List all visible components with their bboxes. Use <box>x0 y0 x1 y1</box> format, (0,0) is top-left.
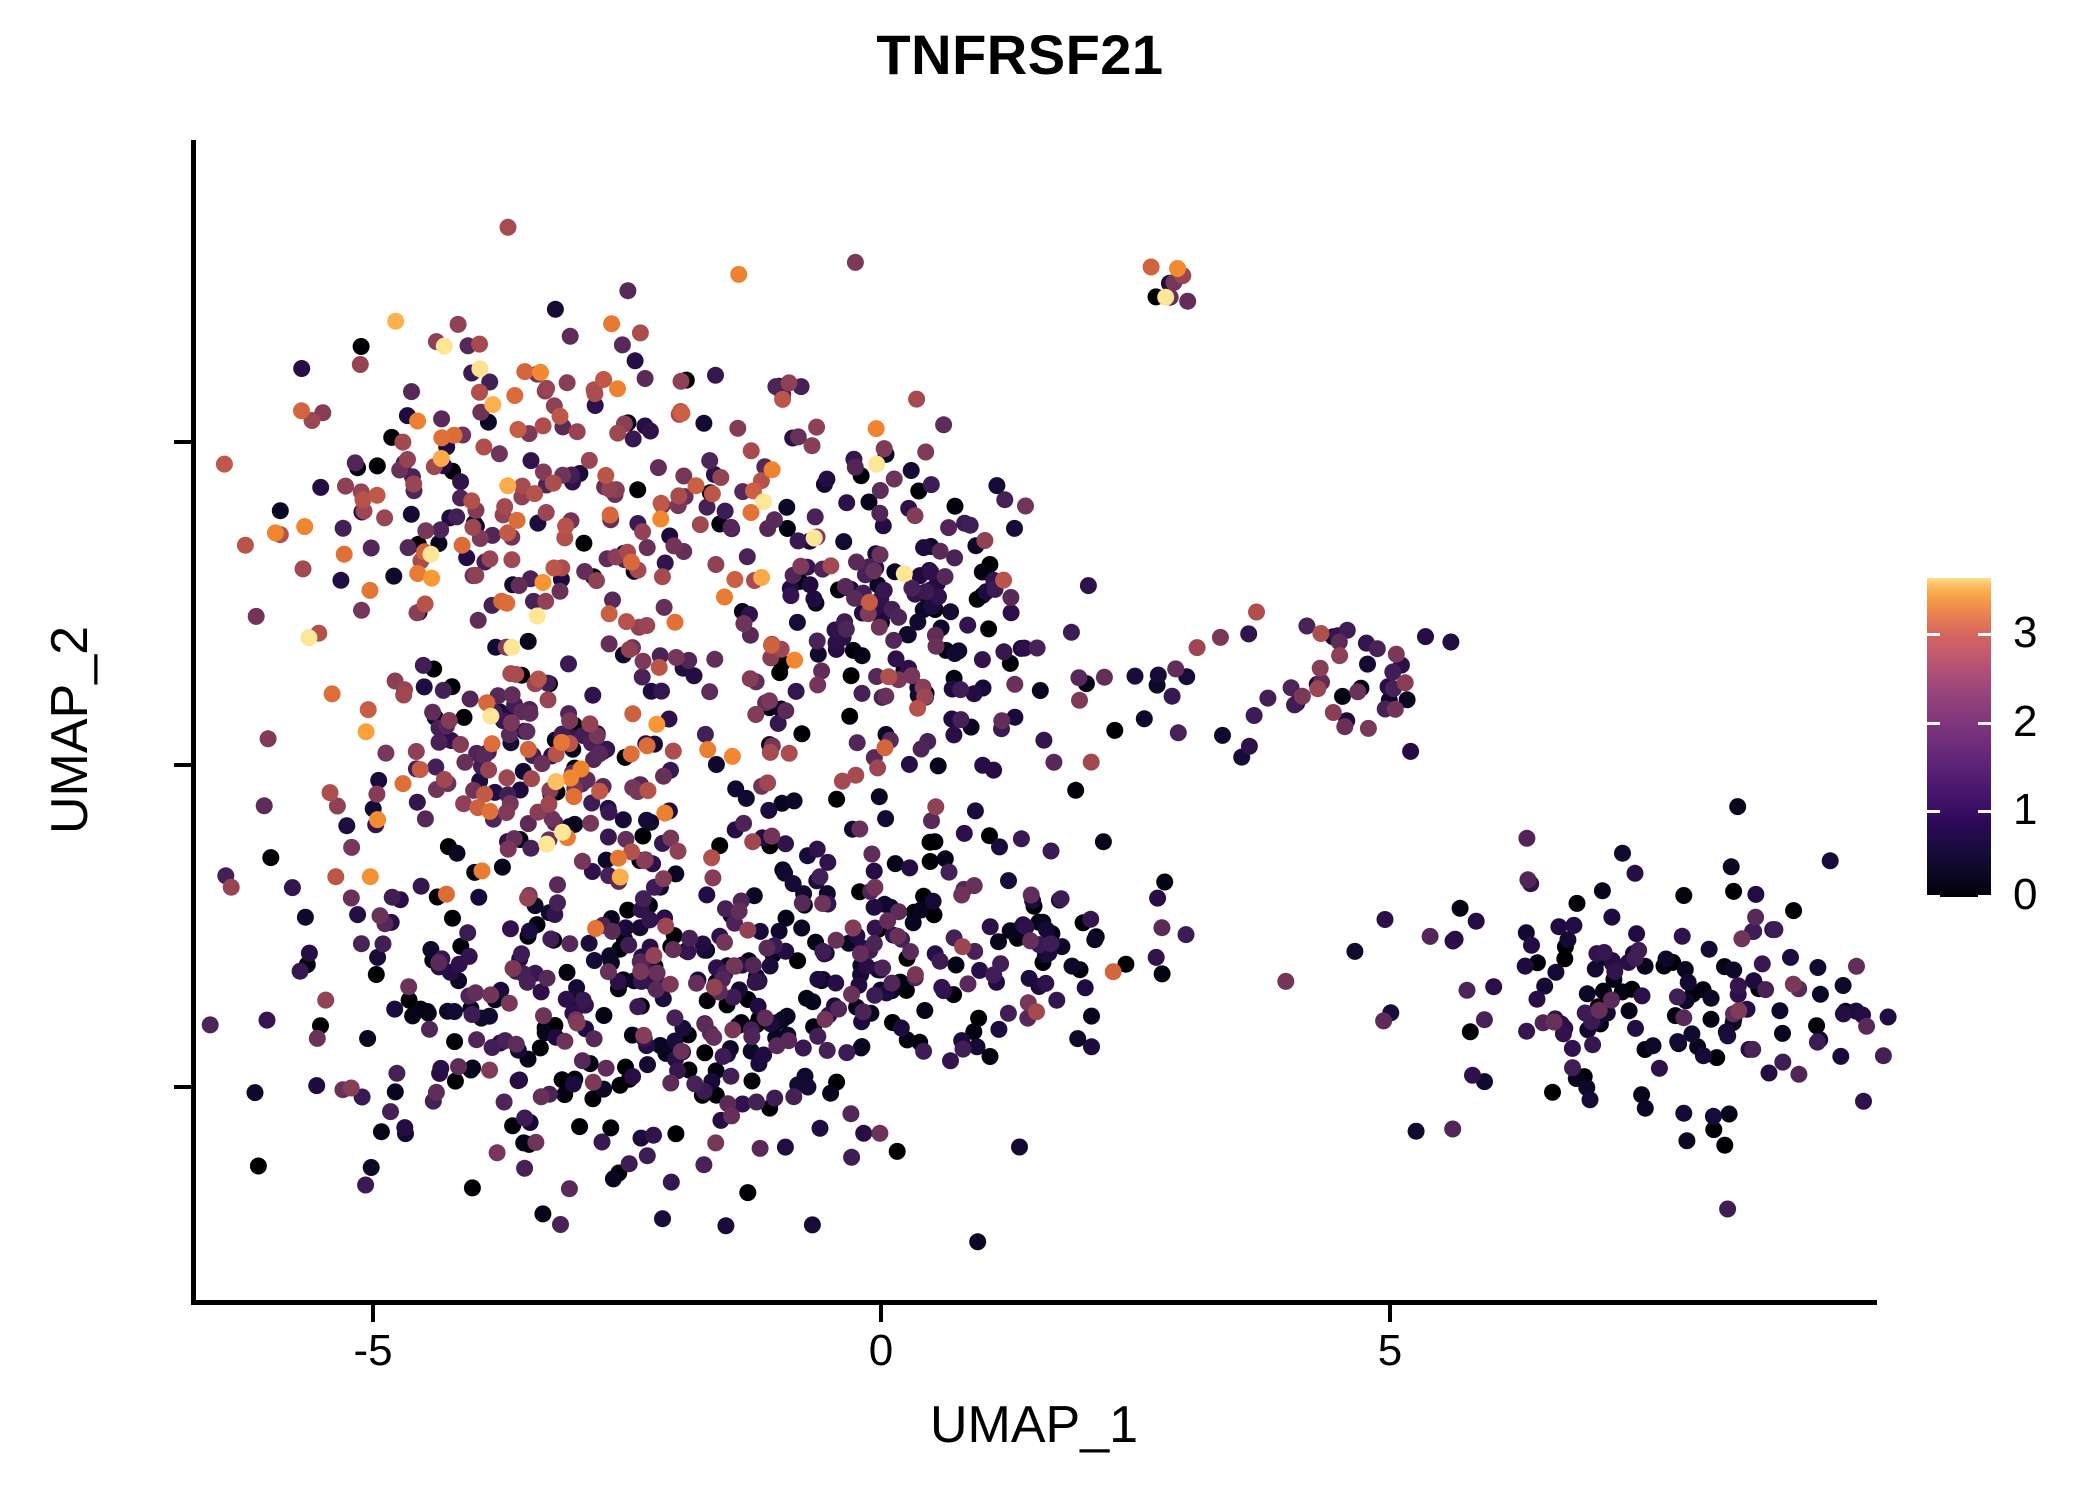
scatter-point <box>343 839 360 856</box>
scatter-point <box>545 475 562 492</box>
scatter-point <box>871 788 888 805</box>
scatter-point <box>1855 1093 1872 1110</box>
scatter-point <box>715 1048 732 1065</box>
scatter-point <box>1309 680 1326 697</box>
scatter-point <box>504 576 521 593</box>
scatter-point <box>562 770 579 787</box>
scatter-point <box>978 583 995 600</box>
scatter-point <box>1165 274 1182 291</box>
scatter-point <box>678 942 695 959</box>
scatter-point <box>260 730 277 747</box>
colorbar-tick-2-left <box>1927 722 1940 725</box>
scatter-point <box>1812 986 1829 1003</box>
scatter-point <box>1006 709 1023 726</box>
scatter-point <box>1325 704 1342 721</box>
scatter-point <box>1592 1015 1609 1032</box>
scatter-point <box>447 1073 464 1090</box>
scatter-point <box>610 1165 627 1182</box>
scatter-point <box>299 956 316 973</box>
scatter-point <box>933 620 950 637</box>
scatter-point <box>1747 886 1764 903</box>
scatter-point <box>623 554 640 571</box>
scatter-point <box>707 556 724 573</box>
scatter-point <box>1559 931 1576 948</box>
scatter-point <box>1083 1008 1100 1025</box>
scatter-point <box>1212 629 1229 646</box>
scatter-point <box>646 736 663 753</box>
scatter-point <box>1683 1025 1700 1042</box>
scatter-point <box>583 795 600 812</box>
scatter-point <box>777 1139 794 1156</box>
scatter-point <box>1178 668 1195 685</box>
scatter-point <box>1037 975 1054 992</box>
scatter-point <box>1518 830 1535 847</box>
x-tick-mark--5 <box>371 1305 375 1322</box>
x-tick-label--5: -5 <box>293 1326 453 1376</box>
scatter-point <box>1517 958 1534 975</box>
scatter-point <box>872 982 889 999</box>
scatter-point <box>877 688 894 705</box>
scatter-point <box>855 585 872 602</box>
scatter-point <box>1880 1009 1897 1026</box>
scatter-point <box>520 928 537 945</box>
scatter-point <box>387 673 404 690</box>
scatter-point <box>633 949 650 966</box>
scatter-point <box>974 651 991 668</box>
scatter-point <box>661 802 678 819</box>
scatter-point <box>915 1043 932 1060</box>
scatter-point <box>866 899 883 916</box>
scatter-point <box>609 425 626 442</box>
scatter-point <box>527 675 544 692</box>
scatter-point <box>1544 1084 1561 1101</box>
scatter-point <box>774 1011 791 1028</box>
scatter-point <box>807 508 824 525</box>
scatter-point <box>1277 973 1294 990</box>
scatter-point <box>872 591 889 608</box>
scatter-point <box>595 1007 612 1024</box>
scatter-point <box>868 456 885 473</box>
scatter-point <box>862 883 879 900</box>
scatter-point <box>841 708 858 725</box>
colorbar-tick-2-right <box>1978 722 1991 725</box>
scatter-point <box>1053 890 1070 907</box>
scatter-point <box>1733 930 1750 947</box>
scatter-point <box>759 520 776 537</box>
scatter-point <box>863 846 880 863</box>
scatter-point <box>970 1010 987 1027</box>
scatter-point <box>529 916 546 933</box>
scatter-point <box>857 566 874 583</box>
scatter-point <box>484 527 501 544</box>
scatter-point <box>1764 921 1781 938</box>
scatter-point <box>502 734 519 751</box>
scatter-point <box>1360 720 1377 737</box>
scatter-point <box>352 356 369 373</box>
colorbar-tick-1-right <box>1978 810 1991 813</box>
scatter-point <box>513 945 530 962</box>
scatter-point <box>899 950 916 967</box>
scatter-point <box>312 479 329 496</box>
scatter-point <box>799 847 816 864</box>
scatter-point <box>731 903 748 920</box>
scatter-point <box>851 821 868 838</box>
scatter-point <box>834 773 851 790</box>
scatter-point <box>1259 690 1276 707</box>
scatter-point <box>743 1043 760 1060</box>
scatter-point <box>761 1100 778 1117</box>
scatter-point <box>1536 978 1553 995</box>
scatter-point <box>611 941 628 958</box>
scatter-point <box>869 576 886 593</box>
scatter-point <box>782 580 799 597</box>
scatter-point <box>820 1007 837 1024</box>
scatter-point <box>809 529 826 546</box>
scatter-point <box>549 876 566 893</box>
scatter-point <box>1035 732 1052 749</box>
scatter-point <box>1703 990 1720 1007</box>
scatter-point <box>1689 1038 1706 1055</box>
scatter-point <box>878 726 895 743</box>
scatter-point <box>786 792 803 809</box>
scatter-point <box>935 982 952 999</box>
scatter-point <box>552 1216 569 1233</box>
scatter-point <box>753 569 770 586</box>
scatter-point <box>391 462 408 479</box>
scatter-point <box>748 968 765 985</box>
scatter-point <box>648 981 665 998</box>
scatter-point <box>1725 962 1742 979</box>
scatter-point <box>462 691 479 708</box>
scatter-point <box>547 1029 564 1046</box>
scatter-point <box>697 1016 714 1033</box>
scatter-point <box>327 868 344 885</box>
scatter-point <box>641 911 658 928</box>
scatter-point <box>543 747 560 764</box>
scatter-point <box>739 991 756 1008</box>
scatter-point <box>634 523 651 540</box>
scatter-point <box>804 1216 821 1233</box>
scatter-point <box>814 943 831 960</box>
scatter-point <box>1670 1035 1687 1052</box>
scatter-point <box>1294 688 1311 705</box>
scatter-point <box>482 708 499 725</box>
scatter-point <box>688 477 705 494</box>
scatter-point <box>725 989 742 1006</box>
scatter-point <box>467 567 484 584</box>
scatter-point <box>724 1021 741 1038</box>
scatter-point <box>853 1038 870 1055</box>
scatter-point <box>556 529 573 546</box>
scatter-point <box>673 1043 690 1060</box>
scatter-point <box>807 595 824 612</box>
scatter-point <box>830 581 847 598</box>
scatter-point <box>956 515 973 532</box>
scatter-point <box>1771 1002 1788 1019</box>
scatter-point <box>537 1024 554 1041</box>
scatter-point <box>1382 1004 1399 1021</box>
scatter-point <box>747 706 764 723</box>
scatter-point <box>470 612 487 629</box>
scatter-point <box>838 494 855 511</box>
scatter-point <box>468 502 485 519</box>
scatter-point <box>462 1000 479 1017</box>
scatter-point <box>785 567 802 584</box>
scatter-point <box>433 450 450 467</box>
scatter-point <box>632 776 649 793</box>
scatter-point <box>909 700 926 717</box>
scatter-point <box>649 965 666 982</box>
scatter-point <box>746 887 763 904</box>
scatter-point <box>643 683 660 700</box>
colorbar-gradient <box>1927 578 1991 897</box>
scatter-point <box>369 487 386 504</box>
scatter-point <box>701 452 718 469</box>
scatter-point <box>409 565 426 582</box>
scatter-point <box>469 799 486 816</box>
scatter-point <box>853 467 870 484</box>
scatter-point <box>513 703 530 720</box>
scatter-point <box>396 1119 413 1136</box>
scatter-point <box>827 622 844 639</box>
scatter-point <box>1745 972 1762 989</box>
scatter-point <box>795 1040 812 1057</box>
scatter-point <box>982 918 999 935</box>
scatter-point <box>463 492 480 509</box>
scatter-point <box>686 667 703 684</box>
scatter-point <box>573 997 590 1014</box>
scatter-point <box>946 670 963 687</box>
scatter-point <box>654 835 671 852</box>
scatter-point <box>1393 657 1410 674</box>
scatter-point <box>335 520 352 537</box>
scatter-point <box>953 1032 970 1049</box>
scatter-point <box>941 864 958 881</box>
y-tick-mark-0 <box>174 763 191 767</box>
scatter-point <box>1790 980 1807 997</box>
scatter-point <box>870 961 887 978</box>
scatter-point <box>1019 1010 1036 1027</box>
scatter-point <box>431 1065 448 1082</box>
colorbar-tick-0-right <box>1978 895 1991 898</box>
scatter-point <box>597 467 614 484</box>
scatter-point <box>767 378 784 395</box>
scatter-point <box>723 907 740 924</box>
scatter-point <box>404 1007 421 1024</box>
scatter-point <box>876 896 893 913</box>
scatter-point <box>1029 640 1046 657</box>
scatter-point <box>886 563 903 580</box>
scatter-point <box>308 1077 325 1094</box>
scatter-point <box>744 833 761 850</box>
scatter-point <box>499 786 516 803</box>
scatter-point <box>661 711 678 728</box>
scatter-point <box>435 457 452 474</box>
scatter-point <box>382 1103 399 1120</box>
scatter-point <box>699 741 716 758</box>
scatter-point <box>1006 676 1023 693</box>
colorbar-label-1: 1 <box>2013 785 2037 835</box>
scatter-point <box>1627 1020 1644 1037</box>
scatter-point <box>395 687 412 704</box>
scatter-point <box>626 972 643 989</box>
scatter-point <box>762 837 779 854</box>
scatter-point <box>874 689 891 706</box>
scatter-point <box>771 664 788 681</box>
scatter-point <box>845 920 862 937</box>
scatter-point <box>386 1001 403 1018</box>
scatter-point <box>519 890 536 907</box>
scatter-point <box>657 555 674 572</box>
scatter-point <box>1339 622 1356 639</box>
scatter-point <box>601 947 618 964</box>
scatter-point <box>967 537 984 554</box>
scatter-point <box>1000 872 1017 889</box>
scatter-point <box>634 669 651 686</box>
scatter-point <box>1637 1100 1654 1117</box>
scatter-point <box>471 384 488 401</box>
scatter-point <box>759 774 776 791</box>
scatter-point <box>1067 782 1084 799</box>
scatter-point <box>357 1177 374 1194</box>
scatter-point <box>605 1170 622 1187</box>
scatter-point <box>947 498 964 515</box>
scatter-point <box>1331 634 1348 651</box>
scatter-point <box>519 974 536 991</box>
scatter-point <box>828 641 845 658</box>
scatter-point <box>460 988 477 1005</box>
scatter-point <box>1013 830 1030 847</box>
scatter-point <box>582 1055 599 1072</box>
scatter-point <box>368 786 385 803</box>
scatter-point <box>563 512 580 529</box>
scatter-point <box>529 515 546 532</box>
scatter-point <box>588 572 605 589</box>
scatter-point <box>886 471 903 488</box>
scatter-point <box>669 1062 686 1079</box>
scatter-point <box>521 1136 538 1153</box>
scatter-point <box>586 385 603 402</box>
scatter-point <box>1741 1041 1758 1058</box>
scatter-point <box>480 744 497 761</box>
scatter-point <box>370 772 387 789</box>
scatter-point <box>773 641 790 658</box>
scatter-point <box>828 932 845 949</box>
scatter-point <box>404 468 421 485</box>
scatter-point <box>529 366 546 383</box>
scatter-point <box>1417 628 1434 645</box>
scatter-point <box>1564 1040 1581 1057</box>
scatter-point <box>480 762 497 779</box>
scatter-point <box>933 979 950 996</box>
scatter-point <box>714 971 731 988</box>
scatter-point <box>954 938 971 955</box>
scatter-point <box>506 830 523 847</box>
scatter-point <box>870 921 887 938</box>
scatter-point <box>793 725 810 742</box>
scatter-point <box>521 425 538 442</box>
scatter-point <box>830 1001 847 1018</box>
scatter-point <box>1189 639 1206 656</box>
scatter-point <box>915 539 932 556</box>
scatter-point <box>481 1008 498 1025</box>
scatter-point <box>394 434 411 451</box>
scatter-point <box>639 1147 656 1164</box>
scatter-point <box>667 1051 684 1068</box>
scatter-point <box>516 1110 533 1127</box>
scatter-point <box>338 817 355 834</box>
scatter-point <box>353 483 370 500</box>
scatter-point <box>788 683 805 700</box>
scatter-point <box>1117 956 1134 973</box>
scatter-point <box>745 957 762 974</box>
scatter-point <box>595 371 612 388</box>
scatter-point <box>438 718 455 735</box>
scatter-point <box>324 685 341 702</box>
scatter-point <box>1002 655 1019 672</box>
scatter-point <box>353 338 370 355</box>
scatter-point <box>726 915 743 932</box>
scatter-point <box>1445 933 1462 950</box>
scatter-point <box>1023 887 1040 904</box>
scatter-point <box>598 741 615 758</box>
scatter-point <box>698 942 715 959</box>
scatter-point <box>520 815 537 832</box>
scatter-point <box>793 920 810 937</box>
scatter-point <box>835 533 852 550</box>
scatter-point <box>908 391 925 408</box>
scatter-point <box>985 966 1002 983</box>
scatter-point <box>686 1075 703 1092</box>
scatter-point <box>574 1052 591 1069</box>
scatter-point <box>1464 1067 1481 1084</box>
scatter-point <box>202 1016 219 1033</box>
scatter-point <box>490 687 507 704</box>
scatter-point <box>586 952 603 969</box>
scatter-point <box>712 1112 729 1129</box>
scatter-point <box>1757 981 1774 998</box>
scatter-point <box>782 587 799 604</box>
scatter-point <box>761 736 778 753</box>
scatter-point <box>591 745 608 762</box>
scatter-point <box>702 484 719 501</box>
scatter-point <box>312 1017 329 1034</box>
scatter-point <box>854 685 871 702</box>
scatter-point <box>474 862 491 879</box>
scatter-point <box>1675 1105 1692 1122</box>
scatter-point <box>444 910 461 927</box>
scatter-point <box>615 811 632 828</box>
scatter-point <box>809 971 826 988</box>
scatter-point <box>703 849 720 866</box>
scatter-point <box>421 1021 438 1038</box>
scatter-point <box>347 454 364 471</box>
scatter-point <box>645 947 662 964</box>
scatter-point <box>472 404 489 421</box>
scatter-point <box>784 430 801 447</box>
scatter-point <box>518 723 535 740</box>
scatter-point <box>852 945 869 962</box>
scatter-point <box>409 604 426 621</box>
scatter-point <box>946 645 963 662</box>
scatter-point <box>416 543 433 560</box>
scatter-point <box>935 416 952 433</box>
scatter-point <box>942 1052 959 1069</box>
scatter-point <box>743 504 760 521</box>
scatter-point <box>486 704 503 721</box>
scatter-point <box>595 778 612 795</box>
scatter-point <box>654 1210 671 1227</box>
